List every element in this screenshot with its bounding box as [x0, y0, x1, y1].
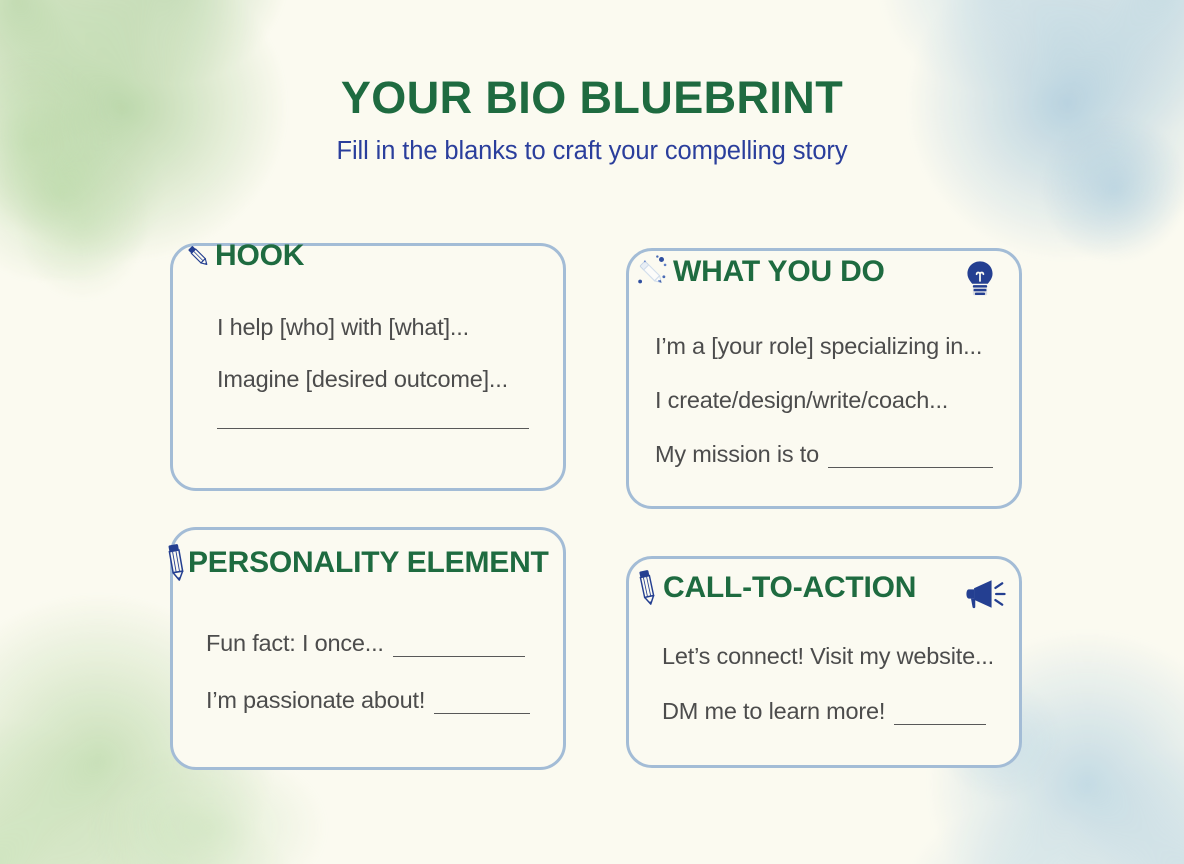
card-hook-body: I help [who] with [what]... Imagine [des… — [173, 314, 563, 429]
card-what-you-do-line-2: I create/design/write/coach... — [655, 387, 993, 414]
card-personality-blank-2[interactable] — [434, 693, 530, 714]
card-hook[interactable]: HOOK I help [who] with [what]... Imagine… — [170, 243, 566, 491]
card-cta-right-icon-wrap — [963, 577, 1011, 611]
card-cta-blank[interactable] — [894, 704, 986, 725]
card-cta-line-2-text: DM me to learn more! — [662, 698, 885, 725]
card-hook-line-1: I help [who] with [what]... — [217, 314, 519, 341]
lightbulb-icon — [963, 259, 997, 299]
card-what-you-do-right-icon-wrap — [963, 259, 997, 299]
card-personality-line-2-text: I’m passionate about! — [206, 687, 425, 714]
card-personality-body: Fun fact: I once... I’m passionate about… — [173, 630, 563, 714]
card-cta-line-1: Let’s connect! Visit my website... — [662, 643, 986, 670]
card-call-to-action[interactable]: CALL-TO-ACTION Let’s connect! Visit my w… — [626, 556, 1022, 768]
card-personality-header: PERSONALITY ELEMENT — [166, 543, 549, 583]
card-personality-element[interactable]: PERSONALITY ELEMENT Fun fact: I once... … — [170, 527, 566, 770]
page-title: YOUR BIO BLUEBRINT — [0, 74, 1184, 121]
card-cta-title: CALL-TO-ACTION — [663, 571, 916, 605]
card-what-you-do-title: WHAT YOU DO — [673, 255, 885, 289]
card-cta-body: Let’s connect! Visit my website... DM me… — [629, 643, 1019, 725]
megaphone-icon — [963, 577, 1011, 611]
card-what-you-do-line-1: I’m a [your role] specializing in... — [655, 333, 993, 360]
card-cta-line-2: DM me to learn more! — [662, 698, 986, 725]
card-hook-blank-line[interactable] — [217, 427, 529, 429]
card-personality-line-2: I’m passionate about! — [206, 687, 530, 714]
card-hook-header: HOOK — [181, 239, 304, 273]
page-header: YOUR BIO BLUEBRINT Fill in the blanks to… — [0, 74, 1184, 166]
card-cta-header: CALL-TO-ACTION — [633, 569, 916, 607]
card-what-you-do-header: WHAT YOU DO — [631, 253, 885, 291]
card-what-you-do-blank[interactable] — [828, 447, 993, 468]
card-what-you-do-body: I’m a [your role] specializing in... I c… — [629, 333, 1019, 468]
card-personality-title: PERSONALITY ELEMENT — [188, 546, 549, 580]
card-personality-line-1: Fun fact: I once... — [206, 630, 530, 657]
card-what-you-do-line-3-text: My mission is to — [655, 441, 819, 468]
card-hook-title: HOOK — [215, 239, 304, 273]
worksheet-page: YOUR BIO BLUEBRINT Fill in the blanks to… — [0, 0, 1184, 864]
pencil-icon — [633, 569, 663, 607]
card-what-you-do-line-3: My mission is to — [655, 441, 993, 468]
card-hook-line-2: Imagine [desired outcome]... — [217, 366, 519, 393]
pencil-icon — [166, 543, 188, 583]
card-personality-blank-1[interactable] — [393, 636, 525, 657]
pencil-icon — [181, 239, 215, 273]
card-what-you-do[interactable]: WHAT YOU DO I’m a [your role] specializi… — [626, 248, 1022, 509]
sparkle-pencil-icon — [631, 253, 673, 291]
page-subtitle: Fill in the blanks to craft your compell… — [0, 137, 1184, 166]
card-personality-line-1-text: Fun fact: I once... — [206, 630, 384, 657]
